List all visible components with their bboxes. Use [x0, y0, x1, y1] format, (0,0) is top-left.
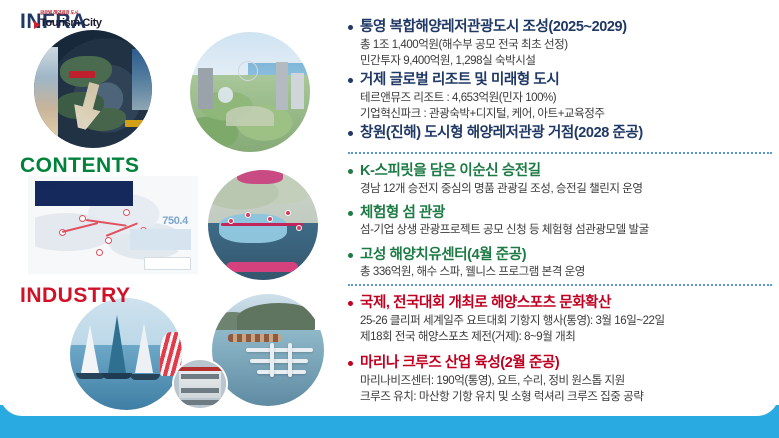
dome-structure — [218, 87, 234, 103]
detail-line: 총 336억원, 해수 스파, 웰니스 프로그램 본격 운영 — [360, 264, 779, 280]
bullet-headline: 거제 글로벌 리조트 및 미래형 도시 — [348, 71, 779, 90]
detail-line: 섬-기업 상생 관광프로젝트 공모 신청 등 체험형 섬관광모델 발굴 — [360, 222, 779, 238]
tower-far-right — [291, 73, 304, 109]
bullet-block: 거제 글로벌 리조트 및 미래형 도시 테르앤뮤즈 리조트 : 4,653억원(… — [348, 71, 779, 122]
bullet-dot-icon — [348, 211, 353, 216]
detail-line: 25-26 클리퍼 세계일주 요트대회 기항지 행사(통영): 3월 16일~2… — [360, 313, 779, 329]
bullet-dot-icon — [348, 253, 353, 258]
infra-text-group: 통영 복합해양레저관광도시 조성(2025~2029) 총 1조 1,400억원… — [340, 4, 779, 150]
route-node — [105, 237, 112, 244]
bullet-headline: 국제, 전국대회 개최로 해양스포츠 문화확산 — [348, 294, 779, 313]
detail-line: 크루즈 유치: 마산항 기항 유치 및 소형 럭셔리 크루즈 집중 공략 — [360, 389, 779, 405]
tower-left — [198, 68, 212, 109]
bullet-block: 체험형 섬 관광 섬-기업 상생 관광프로젝트 공모 신청 등 체험형 섬관광모… — [348, 204, 779, 239]
headline-text: 고성 해양치유센터(4월 준공) — [360, 246, 526, 265]
marina-pier-photo — [212, 294, 324, 406]
headline-text: 거제 글로벌 리조트 및 미래형 도시 — [360, 71, 559, 90]
bullet-headline: 마리나 크루즈 산업 육성(2월 준공) — [348, 354, 779, 373]
sailboat — [108, 315, 126, 373]
bullet-headline: 고성 해양치유센터(4월 준공) — [348, 246, 779, 265]
section-industry: INDUSTRY — [0, 284, 779, 414]
bullet-block: 통영 복합해양레저관광도시 조성(2025~2029) 총 1조 1,400억원… — [348, 18, 779, 69]
window-rows — [181, 374, 218, 379]
banner-triangle-icon — [34, 21, 40, 29]
detail-line: 경남 12개 승전지 중심의 명품 관광길 조성, 승전길 챌린지 운영 — [360, 181, 779, 197]
boat-hull — [102, 373, 132, 379]
detail-line: 제18회 전국 해양스포츠 제전(거제): 8~9월 개최 — [360, 329, 779, 345]
bullet-dot-icon — [348, 301, 353, 306]
map-pin-icon — [296, 225, 302, 231]
aerial-marine-resort-city-render — [190, 32, 310, 152]
tower-right — [276, 62, 288, 110]
boat-hull — [76, 373, 106, 379]
hill-right — [237, 303, 315, 332]
year-label: 1598 — [38, 180, 59, 191]
dock-finger — [270, 343, 274, 377]
section-contents: CONTENTS 750.4 1598 — [0, 152, 779, 280]
sailboat — [81, 325, 99, 373]
sail-shape — [108, 315, 126, 373]
bullet-headline: 체험형 섬 관광 — [348, 204, 779, 223]
coastal-route-line — [221, 223, 302, 226]
map-label-tag-yellow — [125, 120, 147, 127]
sail-shape — [81, 325, 99, 373]
route-node — [96, 249, 103, 256]
bullet-dot-icon — [348, 131, 353, 136]
tourism-city-banner: 글로벌 해양관광 도시 Tourism City — [40, 10, 160, 36]
boat-hull — [130, 374, 160, 380]
headline-text: 통영 복합해양레저관광도시 조성(2025~2029) — [360, 18, 627, 37]
detail-line: 마리나비즈센터: 190억(통영), 요트, 수리, 정비 원스톱 지원 — [360, 373, 779, 389]
headline-text: 체험형 섬 관광 — [360, 204, 445, 223]
bullet-block: 마리나 크루즈 산업 육성(2월 준공) 마리나비즈센터: 190억(통영), … — [348, 354, 779, 405]
dock-walkway — [246, 348, 313, 352]
building-facade — [179, 369, 221, 399]
industry-text-group: 국제, 전국대회 개최로 해양스포츠 문화확산 25-26 클리퍼 세계일주 요… — [340, 284, 779, 414]
distance-label: 750.4 — [162, 215, 188, 227]
detail-line: 테르앤뮤즈 리조트 : 4,653억원(민자 100%) — [360, 90, 779, 106]
headline-text: 창원(진해) 도시형 해양레저관광 거점(2028 준공) — [360, 124, 643, 143]
tourism-city-subtitle: 글로벌 해양관광 도시 — [40, 10, 160, 16]
detail-line: 총 1조 1,400억원(해수부 공모 전국 최초 선정) — [360, 37, 779, 53]
map-legend — [144, 257, 192, 270]
headline-text: 국제, 전국대회 개최로 해양스포츠 문화확산 — [360, 294, 611, 313]
bullet-dot-icon — [348, 361, 353, 366]
bullet-headline: 창원(진해) 도시형 해양레저관광 거점(2028 준공) — [348, 124, 779, 143]
section-label-industry: INDUSTRY — [20, 284, 131, 308]
tourism-city-infographic — [34, 30, 152, 148]
infra-media-group: INFRA 글로벌 해양관광 도시 Tourism City — [0, 4, 340, 150]
map-pin-icon — [285, 210, 291, 216]
bullet-dot-icon — [348, 25, 353, 30]
bullet-block: 창원(진해) 도시형 해양레저관광 거점(2028 준공) — [348, 124, 779, 143]
slide-card: INFRA 글로벌 해양관광 도시 Tourism City — [0, 0, 779, 416]
moored-boats-row — [228, 334, 282, 342]
dock-walkway — [257, 370, 306, 374]
corner-arrow-icon — [757, 429, 773, 438]
map-footer-banner — [226, 262, 299, 272]
bullet-dot-icon — [348, 78, 353, 83]
detail-line: 기업혁신파크 : 관광숙박+디지털, 케어, 아트+교육정주 — [360, 106, 779, 122]
highlight-region — [237, 170, 283, 184]
building-roof — [177, 367, 223, 371]
headline-text: K-스피릿을 담은 이순신 승전길 — [360, 162, 541, 181]
map-caption-box — [130, 229, 191, 251]
photo-strip-left — [34, 47, 58, 139]
marina-biz-center-building-inset — [172, 358, 228, 410]
bullet-headline: 통영 복합해양레저관광도시 조성(2025~2029) — [348, 18, 779, 37]
contents-text-group: K-스피릿을 담은 이순신 승전길 경남 12개 승전지 중심의 명품 관광길 … — [340, 152, 779, 280]
photo-strip-right — [132, 49, 152, 110]
dock-finger — [288, 343, 292, 377]
bullet-block: K-스피릿을 담은 이순신 승전길 경남 12개 승전지 중심의 명품 관광길 … — [348, 162, 779, 197]
tourism-city-title: Tourism City — [40, 17, 160, 29]
bullet-block: 국제, 전국대회 개최로 해양스포츠 문화확산 25-26 클리퍼 세계일주 요… — [348, 294, 779, 345]
contents-media-group: CONTENTS 750.4 1598 — [0, 152, 340, 280]
section-infra: INFRA 글로벌 해양관광 도시 Tourism City — [0, 4, 779, 150]
bullet-headline: K-스피릿을 담은 이순신 승전길 — [348, 162, 779, 181]
detail-line: 민간투자 9,400억원, 1,298실 숙박시설 — [360, 53, 779, 69]
bullet-block: 고성 해양치유센터(4월 준공) 총 336억원, 해수 스파, 웰니스 프로그… — [348, 246, 779, 281]
curved-pavilion — [226, 106, 274, 125]
section-label-contents: CONTENTS — [20, 154, 140, 178]
sail-shape — [135, 323, 153, 373]
sailboat — [135, 323, 153, 373]
headline-text: 마리나 크루즈 산업 육성(2월 준공) — [360, 354, 559, 373]
bullet-dot-icon — [348, 169, 353, 174]
industry-media-group: INDUSTRY — [0, 284, 340, 414]
dock-walkway — [250, 359, 308, 363]
yacht-race-photo — [70, 298, 182, 410]
map-label-tag-red — [69, 71, 95, 78]
island-tourism-circular-map — [208, 170, 318, 280]
